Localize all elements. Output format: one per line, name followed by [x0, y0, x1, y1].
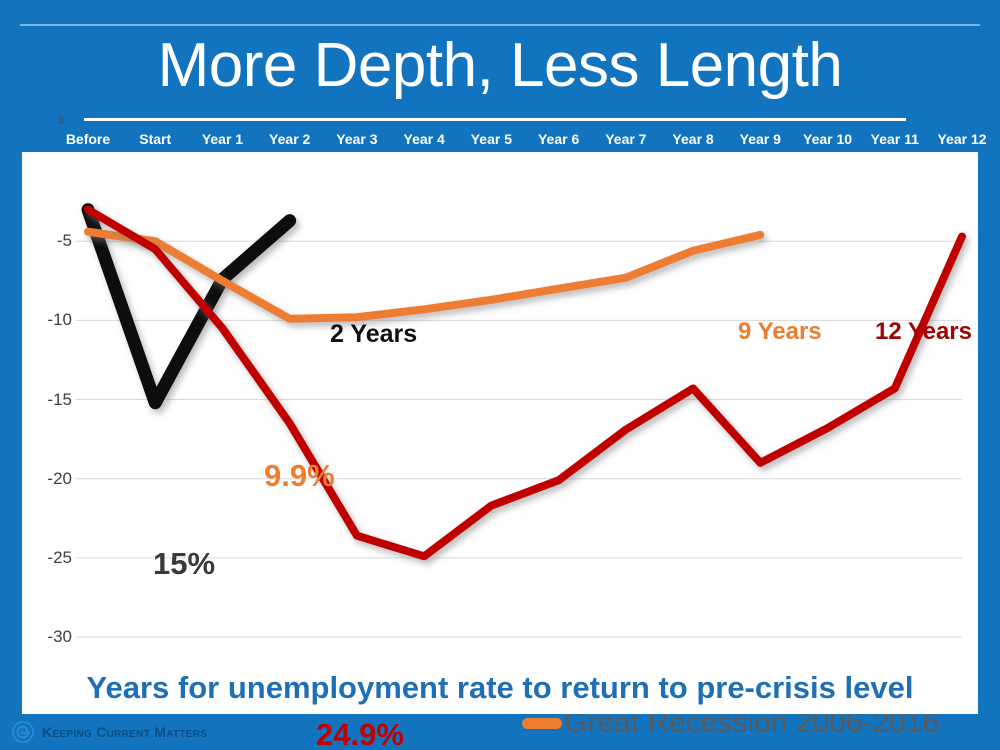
y-axis-tick-label: -30 — [26, 627, 72, 647]
x-axis-label-year-11: Year 11 — [871, 128, 919, 150]
y-axis-tick-label: -15 — [26, 390, 72, 410]
axis-origin-marker: 0 — [58, 116, 66, 128]
x-axis-label-year-10: Year 10 — [803, 128, 852, 150]
title-underline-divider — [84, 118, 906, 121]
y-axis-tick-label: -10 — [26, 310, 72, 330]
x-axis-label-year-1: Year 1 — [202, 128, 243, 150]
caption-panel: Years for unemployment rate to return to… — [22, 662, 978, 714]
x-axis-labels: BeforeStartYear 1Year 2Year 3Year 4Year … — [0, 128, 1000, 152]
x-axis-label-year-6: Year 6 — [538, 128, 579, 150]
annotation-9-years: 9 Years — [738, 318, 822, 346]
x-axis-label-year-5: Year 5 — [471, 128, 512, 150]
x-axis-label-year-8: Year 8 — [672, 128, 713, 150]
footer-bar: Keeping Current Matters — [0, 714, 1000, 750]
chart-canvas — [22, 152, 978, 662]
caption-text: Years for unemployment rate to return to… — [22, 662, 978, 714]
y-axis-tick-label: -25 — [26, 548, 72, 568]
spiral-icon — [12, 721, 34, 743]
x-axis-label-year-9: Year 9 — [740, 128, 781, 150]
chart-plot-area: -5-10-15-20-25-30 2 Years 15% 9.9% 24.9%… — [22, 152, 978, 662]
annotation-12-years: 12 Years — [875, 318, 972, 346]
x-axis-label-before: Before — [66, 128, 110, 150]
annotation-9-9-percent: 9.9% — [264, 458, 335, 494]
x-axis-label-year-12: Year 12 — [937, 128, 986, 150]
title-top-divider — [20, 24, 980, 26]
y-axis-tick-label: -20 — [26, 469, 72, 489]
slide-root: More Depth, Less Length 0 BeforeStartYea… — [0, 0, 1000, 750]
x-axis-label-year-2: Year 2 — [269, 128, 310, 150]
footer-brand-name: Keeping Current Matters — [42, 724, 207, 740]
series-line-3 — [88, 210, 962, 557]
x-axis-label-year-4: Year 4 — [404, 128, 445, 150]
annotation-15-percent: 15% — [153, 546, 215, 582]
y-axis-tick-label: -5 — [26, 231, 72, 251]
chart-series-layer — [88, 210, 962, 557]
page-title: More Depth, Less Length — [0, 30, 1000, 102]
x-axis-label-year-3: Year 3 — [336, 128, 377, 150]
x-axis-label-year-7: Year 7 — [605, 128, 646, 150]
x-axis-label-start: Start — [139, 128, 171, 150]
annotation-2-years: 2 Years — [330, 320, 417, 349]
series-line-2 — [88, 232, 760, 319]
